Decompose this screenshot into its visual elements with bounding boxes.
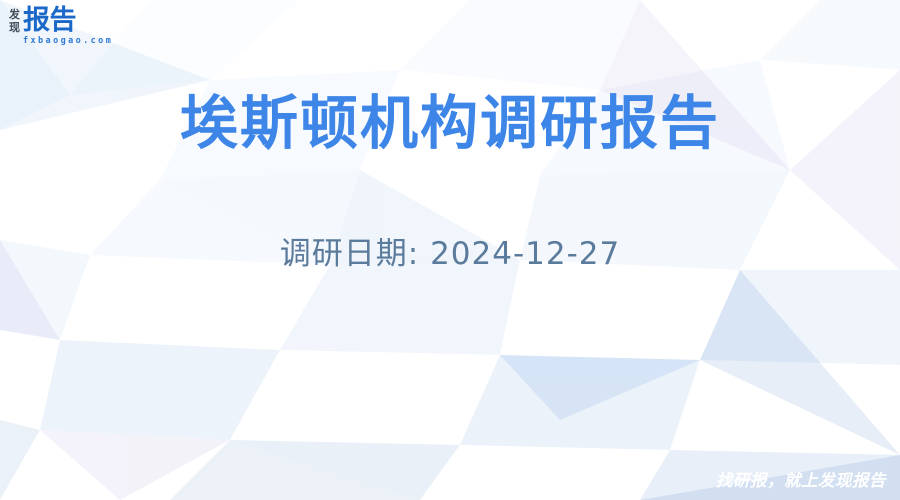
page-title: 埃斯顿机构调研报告 [0,88,900,158]
report-cover-slide: 发 现 报告 fxbaogao.com 埃斯顿机构调研报告 调研日期: 2024… [0,0,900,500]
logo-wordmark: 报告 [23,7,113,35]
brand-tagline: 找研报，就上发现报告 [716,470,886,492]
logo-stacked-characters: 发 现 [9,7,20,34]
survey-date-subtitle: 调研日期: 2024-12-27 [0,233,900,275]
brand-logo[interactable]: 发 现 报告 fxbaogao.com [9,7,113,46]
logo-stacked-top: 发 [9,9,20,22]
logo-domain-text: fxbaogao.com [23,36,113,46]
logo-main: 报告 fxbaogao.com [23,7,113,46]
logo-stacked-bottom: 现 [9,22,20,35]
